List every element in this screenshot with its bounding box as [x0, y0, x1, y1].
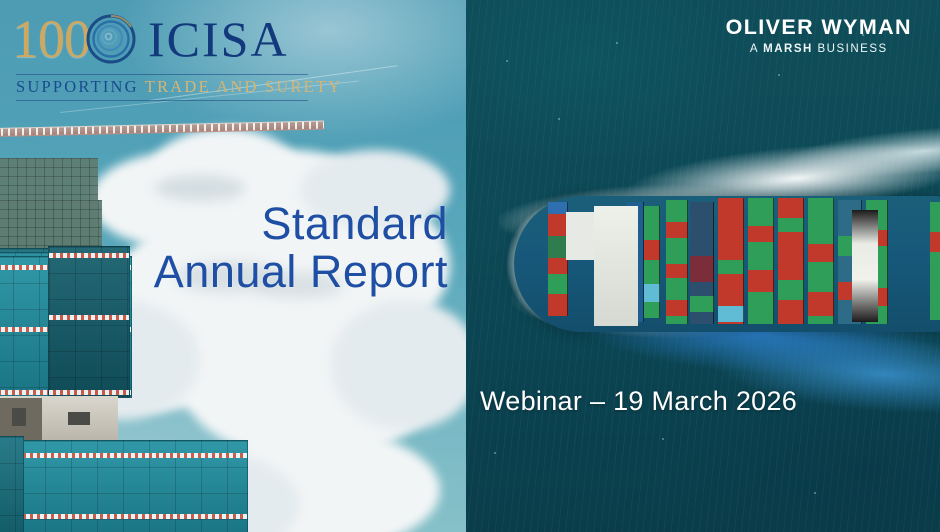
- building-window: [68, 412, 90, 425]
- building-window-2: [12, 408, 26, 426]
- deck-structure-main: [594, 206, 638, 326]
- ow-sub-suffix: BUSINESS: [813, 43, 888, 55]
- icisa-tagline: SUPPORTING TRADE AND SURETY: [16, 74, 308, 101]
- title-line-2: Annual Report: [8, 248, 448, 296]
- ow-sub-brand: MARSH: [763, 43, 813, 55]
- scaffold-wall-lower-left: [0, 436, 24, 532]
- icisa-brand-name: ICISA: [148, 14, 289, 64]
- oliver-wyman-subtitle: A MARSH BUSINESS: [726, 43, 912, 55]
- ow-sub-prefix: A: [750, 43, 763, 55]
- slide-title: Standard Annual Report: [8, 200, 448, 295]
- webinar-date-line: Webinar – 19 March 2026: [480, 386, 797, 417]
- deck-structure-forward: [566, 212, 596, 260]
- oliver-wyman-logo: OLIVER WYMAN A MARSH BUSINESS: [726, 16, 912, 55]
- scaffold-wall-lower: [18, 440, 248, 532]
- oliver-wyman-name: OLIVER WYMAN: [726, 16, 912, 40]
- title-line-1: Standard: [8, 200, 448, 248]
- icisa-tagline-part1: SUPPORTING: [16, 77, 145, 96]
- ship-superstructure: [852, 210, 878, 322]
- icisa-100-anniversary: 100: [12, 12, 90, 66]
- presentation-slide: Standard Annual Report 100 ICISA: [0, 0, 940, 532]
- icisa-tagline-part2: TRADE AND SURETY: [145, 77, 342, 96]
- spiral-circles-icon: [84, 13, 140, 65]
- right-panel: OLIVER WYMAN A MARSH BUSINESS Webinar – …: [466, 0, 940, 532]
- icisa-logo: 100 ICISA SUPPORTING TRADE AND SURETY: [12, 8, 312, 104]
- left-panel: Standard Annual Report 100 ICISA: [0, 0, 466, 532]
